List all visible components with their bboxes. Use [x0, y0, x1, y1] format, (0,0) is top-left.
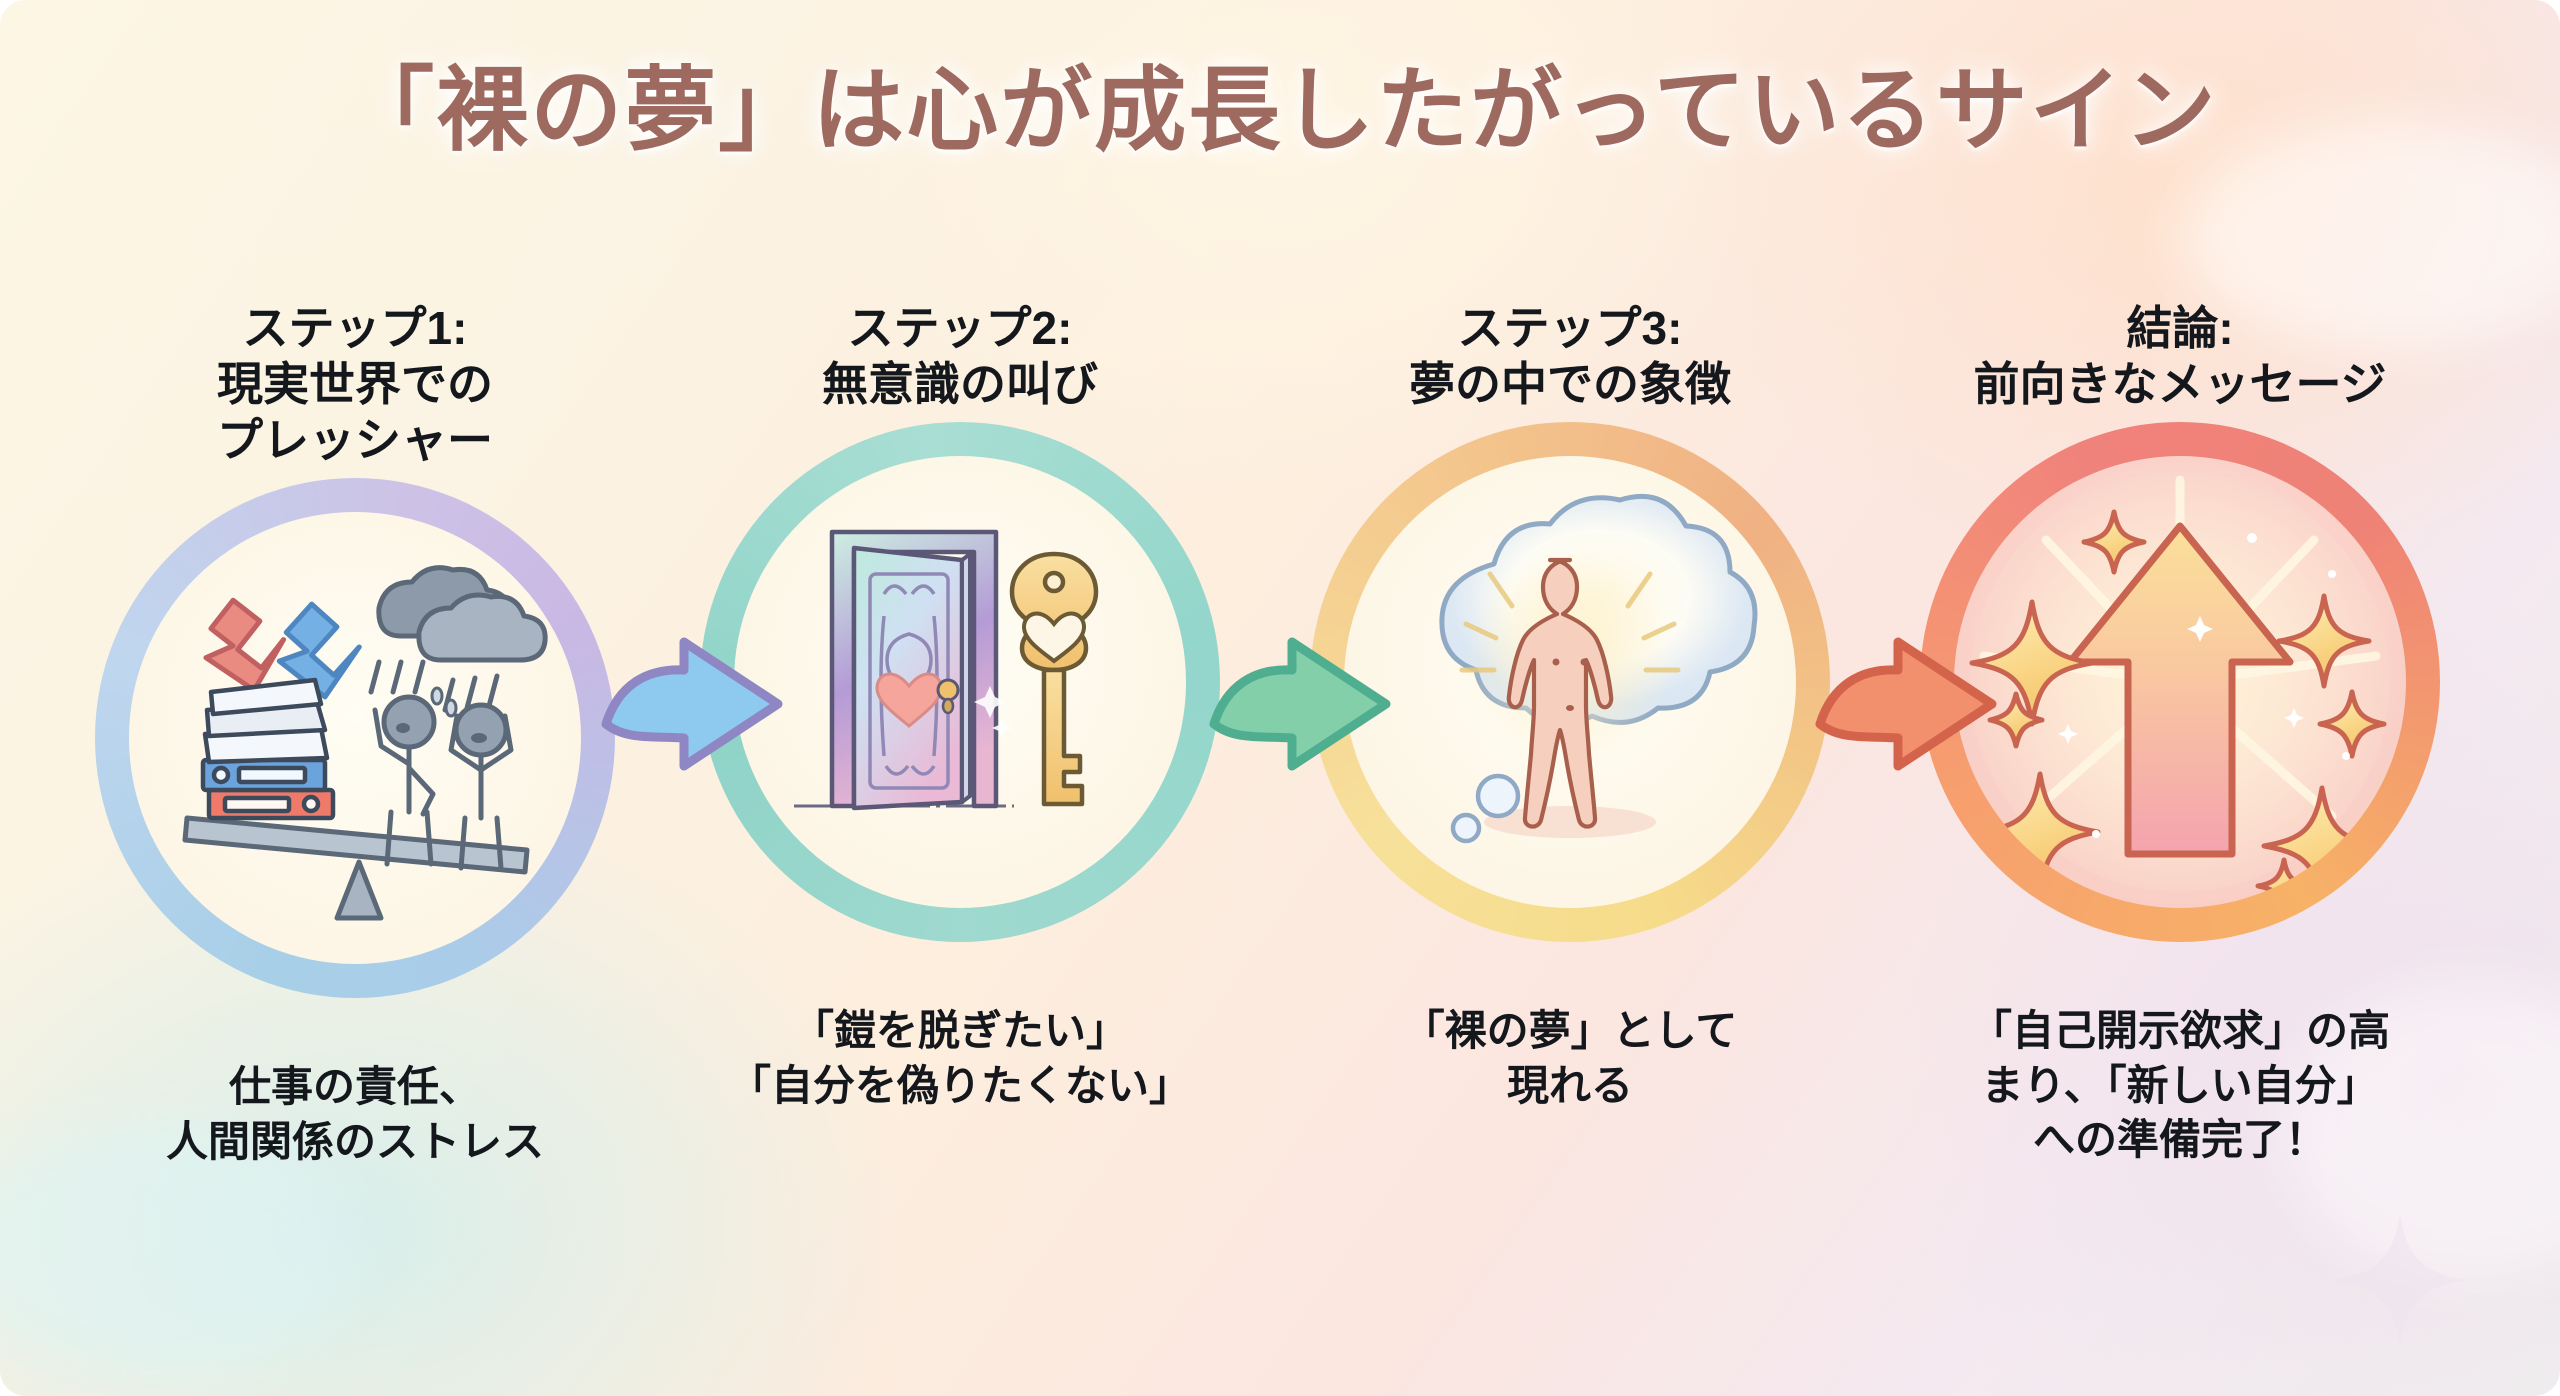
steps-row: ステップ1: 現実世界での プレッシャー — [0, 0, 2560, 1396]
sparkle-up-arrow-icon — [1954, 456, 2406, 908]
step-heading-4: 結論: 前向きなメッセージ — [1880, 300, 2480, 412]
arrow-step2-to-step3 — [1208, 628, 1398, 778]
arrow-step1-to-step2 — [600, 628, 790, 778]
step-circle-1[interactable] — [95, 478, 615, 998]
arrow-step3-to-conclusion — [1814, 628, 2004, 778]
step-caption-4: 「自己開示欲求」の高 まり、「新しい自分」 への準備完了！ — [1880, 1004, 2480, 1168]
door-heart-key-icon — [734, 456, 1186, 908]
step-heading-3: ステップ3: 夢の中での象徴 — [1270, 300, 1870, 412]
step-caption-1: 仕事の責任、 人間関係のストレス — [55, 1060, 655, 1169]
step-heading-2: ステップ2: 無意識の叫び — [660, 300, 1260, 412]
step-heading-1: ステップ1: 現実世界での プレッシャー — [55, 300, 655, 468]
pressure-seesaw-icon — [129, 512, 581, 964]
step-card-1[interactable]: ステップ1: 現実世界での プレッシャー — [55, 300, 655, 1170]
thought-bubble-nude-figure-icon — [1344, 456, 1796, 908]
step-caption-2: 「鎧を脱ぎたい」 「自分を偽りたくない」 — [660, 1004, 1260, 1113]
step-caption-3: 「裸の夢」として 現れる — [1270, 1004, 1870, 1113]
infographic-canvas: 「裸の夢」は心が成長したがっているサイン ステップ1: 現実世界での プレッシャ… — [0, 0, 2560, 1396]
